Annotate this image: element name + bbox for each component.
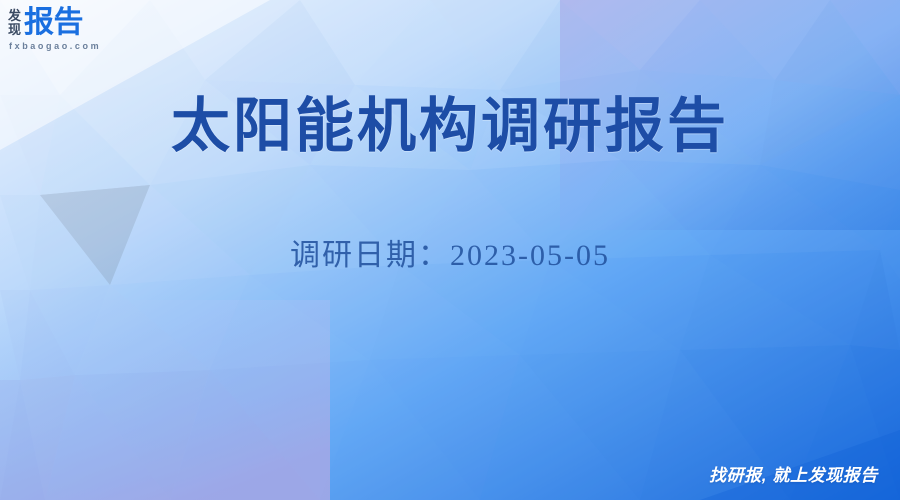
logo-char-xian: 现 bbox=[8, 23, 21, 36]
logo-char-fa: 发 bbox=[8, 9, 21, 22]
logo-domain-text: fxbaogao.com bbox=[9, 41, 101, 51]
low-poly-background bbox=[0, 0, 900, 500]
footer-tagline: 找研报, 就上发现报告 bbox=[709, 461, 878, 486]
logo-wordmark-row: 发 现 报告 bbox=[8, 8, 83, 38]
logo-stacked-characters: 发 现 bbox=[8, 9, 21, 37]
site-logo[interactable]: 发 现 报告 fxbaogao.com bbox=[8, 8, 101, 51]
report-cover-slide: 发 现 报告 fxbaogao.com 太阳能机构调研报告 调研日期：2023-… bbox=[0, 0, 900, 500]
logo-wordmark: 报告 bbox=[24, 8, 83, 38]
